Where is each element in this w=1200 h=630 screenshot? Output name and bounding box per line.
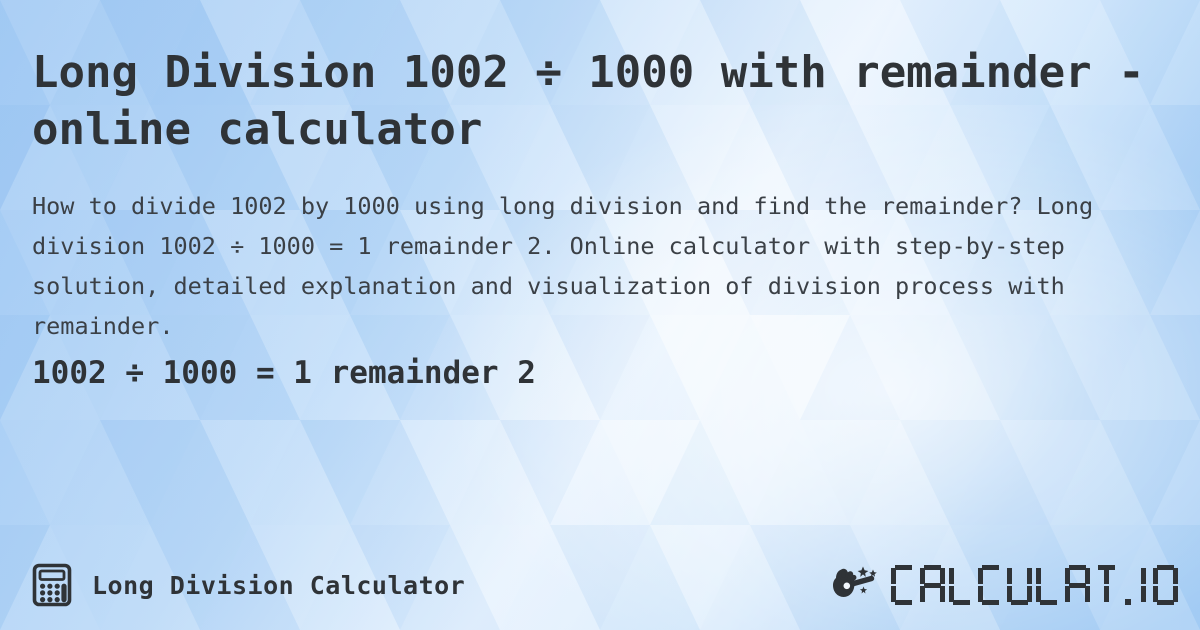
og-image-card: Long Division 1002 ÷ 1000 with remainder… (0, 0, 1200, 630)
lcd-char-l2 (1036, 565, 1061, 605)
page-title: Long Division 1002 ÷ 1000 with remainder… (32, 44, 1162, 158)
footer-brand-left[interactable]: Long Division Calculator (30, 563, 465, 607)
lcd-char-c (891, 565, 916, 605)
calculator-icon (30, 563, 74, 607)
content-area: Long Division 1002 ÷ 1000 with remainder… (0, 0, 1200, 630)
lcd-char-l (949, 565, 974, 605)
footer-brand-right[interactable] (830, 564, 1178, 606)
lcd-char-c2 (978, 565, 1003, 605)
lcd-char-a2 (1065, 565, 1090, 605)
magic-wand-hand-icon (830, 564, 882, 606)
lcd-char-period (1123, 565, 1134, 605)
footer: Long Division Calculator (0, 538, 1200, 630)
footer-brand-right-label (891, 565, 1178, 605)
footer-brand-left-label: Long Division Calculator (92, 571, 465, 600)
lcd-char-t (1094, 565, 1119, 605)
lcd-char-o (1153, 565, 1178, 605)
lcd-char-u (1007, 565, 1032, 605)
page-description: How to divide 1002 by 1000 using long di… (32, 186, 1172, 346)
division-result: 1002 ÷ 1000 = 1 remainder 2 (32, 355, 536, 391)
lcd-char-i (1138, 565, 1149, 605)
lcd-char-a (920, 565, 945, 605)
